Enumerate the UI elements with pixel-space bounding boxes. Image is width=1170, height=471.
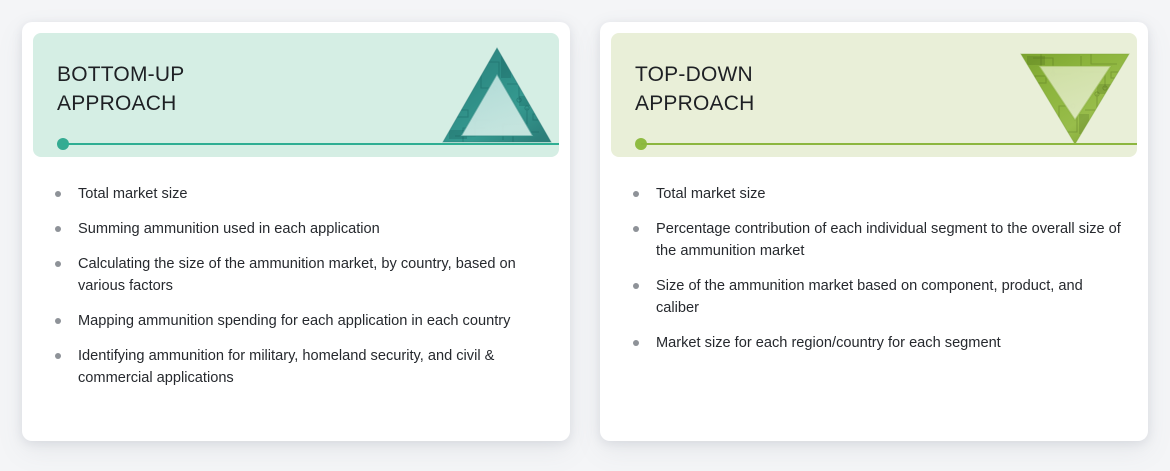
list-item: Market size for each region/country for …	[627, 332, 1121, 354]
triangle-down-icon	[1019, 44, 1131, 146]
list-item: Total market size	[49, 183, 543, 205]
card-body-top-down: Total market size Percentage contributio…	[611, 157, 1137, 430]
card-top-down-approach: TOP-DOWN APPROACH	[600, 22, 1148, 441]
card-title-top-down: TOP-DOWN APPROACH	[635, 60, 754, 118]
card-header-bottom-up: BOTTOM-UP APPROACH	[33, 33, 559, 157]
accent-rule-top-down	[635, 143, 1137, 145]
list-item: Calculating the size of the ammunition m…	[49, 253, 543, 297]
list-item: Mapping ammunition spending for each app…	[49, 310, 543, 332]
triangle-up-icon	[441, 44, 553, 146]
accent-line-top-down	[641, 143, 1137, 145]
approach-comparison-board: BOTTOM-UP APPROACH	[0, 0, 1170, 471]
accent-line-bottom-up	[63, 143, 559, 145]
list-item: Percentage contribution of each individu…	[627, 218, 1121, 262]
card-header-top-down: TOP-DOWN APPROACH	[611, 33, 1137, 157]
card-title-bottom-up: BOTTOM-UP APPROACH	[57, 60, 184, 118]
list-item: Size of the ammunition market based on c…	[627, 275, 1121, 319]
bullet-list-bottom-up: Total market size Summing ammunition use…	[49, 183, 543, 389]
list-item: Total market size	[627, 183, 1121, 205]
bullet-list-top-down: Total market size Percentage contributio…	[627, 183, 1121, 354]
list-item: Summing ammunition used in each applicat…	[49, 218, 543, 240]
accent-rule-bottom-up	[57, 143, 559, 145]
card-bottom-up-approach: BOTTOM-UP APPROACH	[22, 22, 570, 441]
list-item: Identifying ammunition for military, hom…	[49, 345, 543, 389]
card-body-bottom-up: Total market size Summing ammunition use…	[33, 157, 559, 430]
